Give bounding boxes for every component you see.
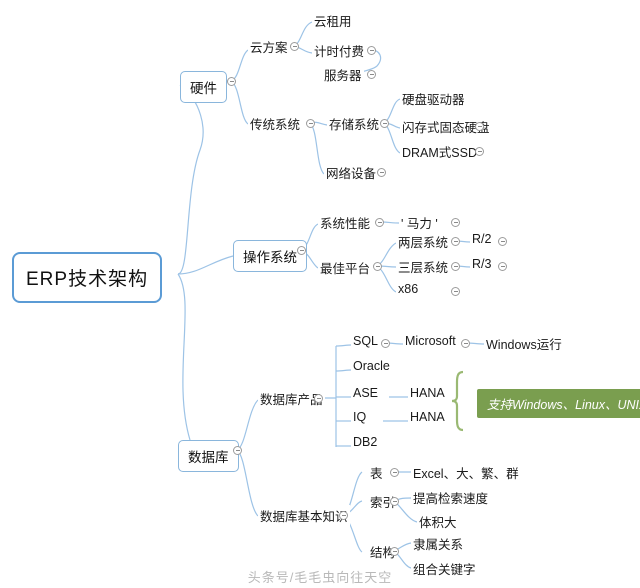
node-timed-billing[interactable]: 计时付费 — [312, 40, 366, 61]
node-windows-runtime[interactable]: Windows运行 — [484, 333, 564, 354]
node-r3[interactable]: R/3 — [470, 256, 493, 272]
node-iq[interactable]: IQ — [351, 409, 368, 425]
collapse-toggle-sql[interactable] — [381, 339, 390, 348]
collapse-toggle-three-tier[interactable] — [451, 262, 460, 271]
node-hana-ase[interactable]: HANA — [408, 385, 447, 401]
node-r2[interactable]: R/2 — [470, 231, 493, 247]
node-cloud-rental[interactable]: 云租用 — [312, 10, 354, 31]
collapse-toggle-r3[interactable] — [498, 262, 507, 271]
branch-database[interactable]: 数据库 — [178, 440, 239, 472]
node-database-basics[interactable]: 数据库基本知识 — [258, 505, 350, 526]
collapse-toggle-index[interactable] — [390, 497, 399, 506]
collapse-toggle-server[interactable] — [367, 70, 376, 79]
collapse-toggle-db-products[interactable] — [314, 394, 323, 403]
node-index-size[interactable]: 体积大 — [417, 511, 459, 532]
node-legacy-system[interactable]: 传统系统 — [248, 113, 302, 134]
collapse-toggle-db[interactable] — [233, 446, 242, 455]
collapse-toggle-platform[interactable] — [373, 262, 382, 271]
branch-operating-system[interactable]: 操作系统 — [233, 240, 307, 272]
collapse-toggle-x86[interactable] — [451, 287, 460, 296]
note-supported-platforms[interactable]: 支持Windows、Linux、UNIX — [477, 389, 640, 418]
collapse-toggle-network[interactable] — [377, 168, 386, 177]
watermark: 头条号/毛毛虫向往天空 — [0, 567, 640, 586]
node-network-equipment[interactable]: 网络设备 — [324, 162, 378, 183]
node-cloud-solution[interactable]: 云方案 — [248, 36, 290, 57]
mindmap-canvas: ERP技术架构 硬件 操作系统 数据库 云方案 云租用 计时付费 服务器 传统系… — [0, 0, 640, 588]
collapse-toggle-legacy[interactable] — [306, 119, 315, 128]
collapse-toggle-db-basics[interactable] — [339, 511, 348, 520]
node-table-examples[interactable]: Excel、大、繁、群 — [411, 462, 521, 483]
node-db2[interactable]: DB2 — [351, 434, 379, 450]
collapse-toggle-horsepower[interactable] — [451, 218, 460, 227]
collapse-toggle-dram[interactable] — [475, 147, 484, 156]
node-ase[interactable]: ASE — [351, 385, 380, 401]
node-index-speed[interactable]: 提高检索速度 — [411, 487, 490, 508]
node-best-platform[interactable]: 最佳平台 — [318, 257, 372, 278]
node-affiliation[interactable]: 隶属关系 — [411, 533, 465, 554]
node-x86[interactable]: x86 — [396, 281, 420, 297]
node-microsoft[interactable]: Microsoft — [403, 333, 458, 349]
collapse-toggle-table[interactable] — [390, 468, 399, 477]
collapse-toggle-perf[interactable] — [375, 218, 384, 227]
node-hana-iq[interactable]: HANA — [408, 409, 447, 425]
node-horsepower[interactable]: ' 马力 ' — [399, 212, 440, 233]
node-table[interactable]: 表 — [368, 462, 385, 483]
collapse-toggle-cloud[interactable] — [290, 42, 299, 51]
collapse-toggle-storage[interactable] — [380, 119, 389, 128]
node-sql[interactable]: SQL — [351, 333, 380, 349]
collapse-toggle-timed-fee[interactable] — [367, 46, 376, 55]
node-oracle[interactable]: Oracle — [351, 358, 392, 374]
collapse-toggle-hardware[interactable] — [227, 77, 236, 86]
collapse-toggle-microsoft[interactable] — [461, 339, 470, 348]
node-three-tier-system[interactable]: 三层系统 — [396, 256, 450, 277]
root-node[interactable]: ERP技术架构 — [12, 252, 162, 303]
collapse-toggle-ssd[interactable] — [475, 122, 484, 131]
node-server[interactable]: 服务器 — [322, 64, 364, 85]
node-system-performance[interactable]: 系统性能 — [318, 212, 372, 233]
branch-hardware[interactable]: 硬件 — [180, 71, 227, 103]
collapse-toggle-r2[interactable] — [498, 237, 507, 246]
collapse-toggle-structure[interactable] — [390, 547, 399, 556]
node-two-tier-system[interactable]: 两层系统 — [396, 231, 450, 252]
node-storage-system[interactable]: 存储系统 — [327, 113, 381, 134]
node-hard-disk-drive[interactable]: 硬盘驱动器 — [400, 88, 467, 109]
collapse-toggle-os[interactable] — [297, 246, 306, 255]
collapse-toggle-two-tier[interactable] — [451, 237, 460, 246]
node-dram-ssd[interactable]: DRAM式SSD — [400, 141, 479, 162]
